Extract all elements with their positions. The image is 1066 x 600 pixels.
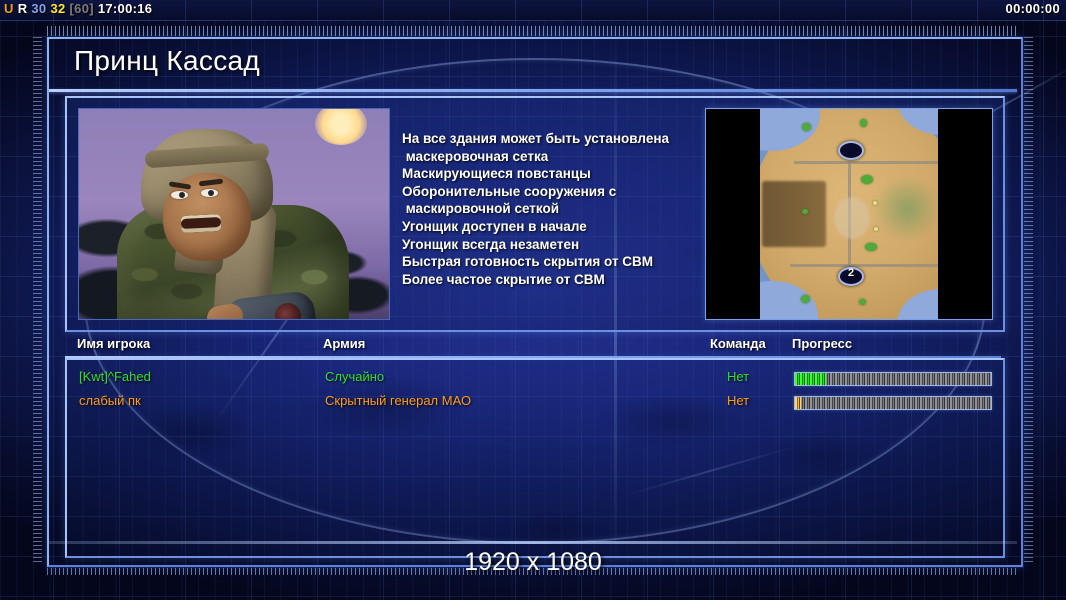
general-abilities-list: На все здания может быть установлена мас… [402,130,702,288]
ability-line: На все здания может быть установлена [402,130,702,148]
column-header-team: Команда [710,336,766,351]
progress-fill [795,373,826,385]
title-bar: Принц Кассад [49,39,1017,91]
portrait-head [141,129,273,271]
map-start-position [838,141,864,160]
ability-line: Угонщик всегда незаметен [402,236,702,254]
general-portrait [78,108,390,320]
map-resource [874,227,878,231]
map-vegetation [859,299,866,305]
fps-max-value: [60] [70,1,94,16]
player-list-panel: [Kwt]^Fahed Случайно Нет слабый пк Скрыт… [65,358,1005,558]
ability-line: Оборонительные сооружения с [402,183,702,201]
map-vegetation [860,119,867,127]
map-preview[interactable]: 2 [705,108,993,320]
map-start-position: 2 [838,267,864,286]
ability-line: маскеровочная сетка [402,148,702,166]
portrait-mouth [181,214,222,233]
ability-line: Более частое скрытие от СВМ [402,271,702,289]
map-resource [873,201,877,205]
map-vegetation [802,209,808,214]
ability-line: Маскирующиеся повстанцы [402,165,702,183]
map-vegetation [802,123,811,131]
ping-value: 30 [31,1,46,16]
map-forest-region [874,177,938,241]
progress-fill [795,397,801,409]
player-name: слабый пк [79,393,141,408]
map-road [794,161,938,164]
player-progress-bar [794,396,992,410]
map-image: 2 [760,109,938,319]
page-title: Принц Кассад [74,45,260,77]
column-header-name: Имя игрока [77,336,150,351]
status-bar: UR3032[60]17:00:16 00:00:00 [0,0,1066,21]
game-lobby-screen: UR3032[60]17:00:16 00:00:00 Принц Кассад [0,0,1066,600]
map-shadow-region [762,181,826,247]
progress-track [795,397,991,409]
portrait-pupil-right [208,190,214,196]
column-header-progress: Прогресс [792,336,852,351]
map-center-feature [834,197,870,239]
player-team: Нет [727,369,749,384]
fps-value: 32 [50,1,65,16]
ability-line: маскировочной сеткой [402,200,702,218]
map-vegetation [801,295,810,303]
portrait-pupil-left [179,192,185,198]
bottom-divider [49,541,1017,544]
download-indicator: R [18,1,28,16]
map-start-label: 2 [840,267,862,279]
player-progress-bar [794,372,992,386]
player-army: Скрытный генерал МАО [325,393,471,408]
network-stats: UR3032[60]17:00:16 [4,1,156,16]
map-road [790,264,938,267]
upload-indicator: U [4,1,14,16]
table-row[interactable]: слабый пк Скрытный генерал МАО Нет [67,390,999,414]
general-info-panel: На все здания может быть установлена мас… [65,96,1005,332]
game-timer: 00:00:00 [1006,1,1060,16]
player-army: Случайно [325,369,384,384]
resolution-label: 1920 x 1080 [0,548,1066,577]
player-name: [Kwt]^Fahed [79,369,151,384]
status-bar-grid [0,0,1066,20]
map-vegetation [861,175,873,184]
map-vegetation [865,243,877,251]
table-row[interactable]: [Kwt]^Fahed Случайно Нет [67,366,999,390]
column-header-army: Армия [323,336,365,351]
ability-line: Угонщик доступен в начале [402,218,702,236]
title-divider [49,89,1017,92]
system-clock: 17:00:16 [98,1,152,16]
player-team: Нет [727,393,749,408]
player-table-header: Имя игрока Армия Команда Прогресс [65,336,1001,356]
ability-line: Быстрая готовность скрытия от СВМ [402,253,702,271]
